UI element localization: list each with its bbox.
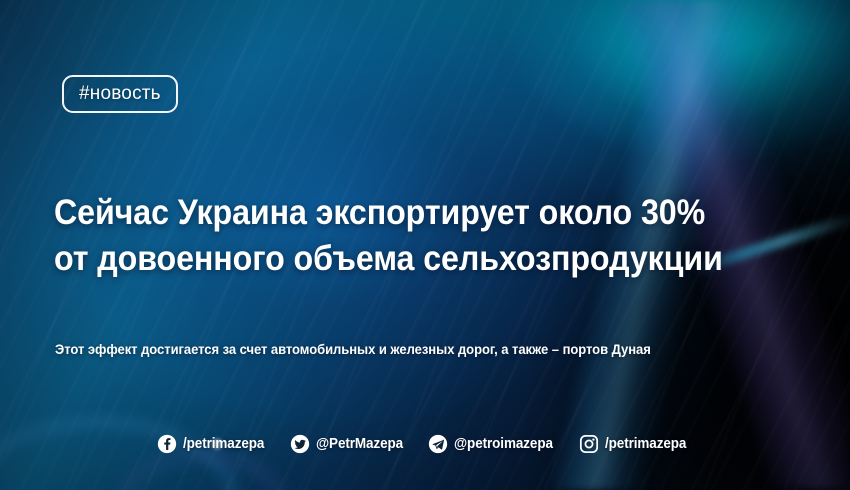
facebook-icon — [157, 434, 177, 454]
twitter-icon — [290, 434, 310, 454]
social-handle-facebook: /petrimazepa — [183, 436, 264, 452]
page-title-line-1: Сейчас Украина экспортирует около 30% — [54, 190, 698, 236]
social-link-telegram[interactable]: @petroimazepa — [428, 434, 560, 454]
social-link-twitter[interactable]: @PetrMazepa — [290, 434, 410, 454]
social-handle-twitter: @PetrMazepa — [316, 436, 403, 452]
page-subtitle: Этот эффект достигается за счет автомоби… — [55, 341, 651, 357]
social-links-bar: /petrimazepa @PetrMazepa @petroimazepa — [0, 434, 850, 454]
page-title: Сейчас Украина экспортирует около 30% от… — [54, 190, 698, 281]
news-banner-card: #новость Сейчас Украина экспортирует око… — [0, 0, 850, 490]
instagram-icon — [579, 434, 599, 454]
page-title-line-2: от довоенного объема сельхозпродукции — [54, 236, 698, 282]
social-link-facebook[interactable]: /petrimazepa — [157, 434, 270, 454]
category-badge-label: #новость — [79, 83, 161, 105]
social-handle-instagram: /petrimazepa — [605, 436, 686, 452]
social-link-instagram[interactable]: /petrimazepa — [579, 434, 692, 454]
telegram-icon — [428, 434, 448, 454]
category-badge[interactable]: #новость — [62, 75, 178, 113]
content-layer: #новость Сейчас Украина экспортирует око… — [0, 0, 850, 490]
social-handle-telegram: @petroimazepa — [454, 436, 553, 452]
